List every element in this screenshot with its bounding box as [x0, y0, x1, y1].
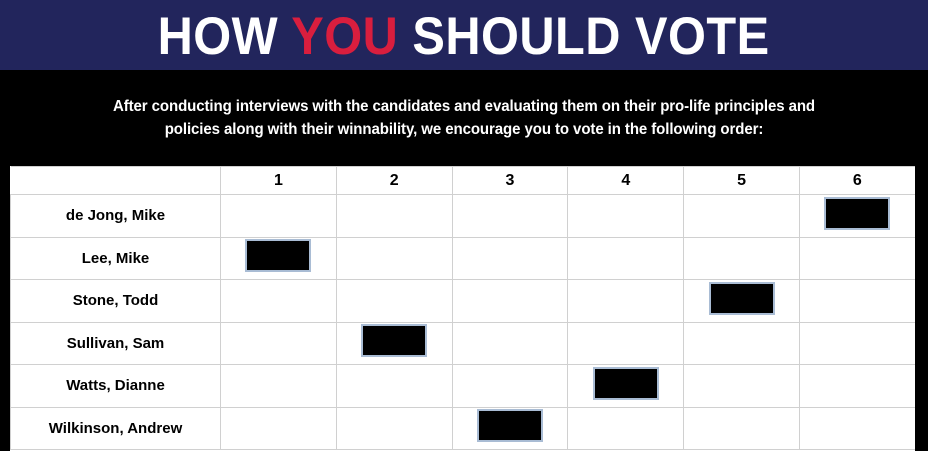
column-header-rank-3: 3	[452, 167, 568, 195]
rank-cell-1	[221, 365, 337, 408]
rank-cell-6	[799, 322, 915, 365]
rank-cell-4	[568, 195, 684, 238]
rank-cell-5	[684, 322, 800, 365]
column-header-name	[11, 167, 221, 195]
rank-cell-5	[684, 237, 800, 280]
rank-cell-1	[221, 195, 337, 238]
table-header: 1 2 3 4 5 6	[11, 167, 916, 195]
subtitle-band: After conducting interviews with the can…	[0, 70, 928, 166]
rank-marker	[245, 239, 311, 272]
column-header-rank-2: 2	[336, 167, 452, 195]
rank-cell-1	[221, 237, 337, 280]
rank-cell-1	[221, 280, 337, 323]
rank-cell-4	[568, 322, 684, 365]
candidate-name-cell: Wilkinson, Andrew	[11, 407, 221, 450]
rank-marker	[709, 282, 775, 315]
rank-cell-3	[452, 322, 568, 365]
rank-cell-3	[452, 195, 568, 238]
table-row: de Jong, Mike	[11, 195, 916, 238]
table-row: Lee, Mike	[11, 237, 916, 280]
candidate-name-cell: de Jong, Mike	[11, 195, 221, 238]
candidate-name-cell: Stone, Todd	[11, 280, 221, 323]
rank-cell-2	[336, 322, 452, 365]
rank-cell-2	[336, 365, 452, 408]
vote-order-table: 1 2 3 4 5 6 de Jong, MikeLee, MikeStone,…	[10, 166, 915, 450]
rank-marker	[824, 197, 890, 230]
candidate-name-cell: Watts, Dianne	[11, 365, 221, 408]
rank-cell-6	[799, 195, 915, 238]
rank-cell-2	[336, 407, 452, 450]
page-title-accent: YOU	[292, 7, 399, 66]
rank-cell-3	[452, 365, 568, 408]
rank-cell-6	[799, 237, 915, 280]
table-row: Watts, Dianne	[11, 365, 916, 408]
rank-cell-4	[568, 237, 684, 280]
table-row: Wilkinson, Andrew	[11, 407, 916, 450]
rank-cell-5	[684, 407, 800, 450]
rank-marker	[593, 367, 659, 400]
rank-cell-2	[336, 280, 452, 323]
rank-cell-6	[799, 407, 915, 450]
column-header-rank-6: 6	[799, 167, 915, 195]
rank-cell-3	[452, 280, 568, 323]
rank-cell-6	[799, 365, 915, 408]
rank-cell-2	[336, 195, 452, 238]
rank-marker	[477, 409, 543, 442]
column-header-rank-4: 4	[568, 167, 684, 195]
subtitle-text: After conducting interviews with the can…	[105, 95, 823, 141]
page-title-part1: HOW	[158, 7, 292, 66]
rank-cell-5	[684, 365, 800, 408]
header-banner: HOW YOU SHOULD VOTE	[0, 0, 928, 70]
table-row: Sullivan, Sam	[11, 322, 916, 365]
column-header-rank-1: 1	[221, 167, 337, 195]
vote-order-table-container: 1 2 3 4 5 6 de Jong, MikeLee, MikeStone,…	[10, 166, 915, 451]
column-header-rank-5: 5	[684, 167, 800, 195]
rank-cell-4	[568, 365, 684, 408]
rank-marker	[361, 324, 427, 357]
rank-cell-6	[799, 280, 915, 323]
page-title-part2: SHOULD VOTE	[399, 7, 770, 66]
rank-cell-2	[336, 237, 452, 280]
rank-cell-4	[568, 407, 684, 450]
table-body: de Jong, MikeLee, MikeStone, ToddSulliva…	[11, 195, 916, 450]
rank-cell-3	[452, 237, 568, 280]
rank-cell-1	[221, 407, 337, 450]
table-row: Stone, Todd	[11, 280, 916, 323]
rank-cell-1	[221, 322, 337, 365]
rank-cell-5	[684, 195, 800, 238]
rank-cell-3	[452, 407, 568, 450]
table-header-row: 1 2 3 4 5 6	[11, 167, 916, 195]
candidate-name-cell: Sullivan, Sam	[11, 322, 221, 365]
candidate-name-cell: Lee, Mike	[11, 237, 221, 280]
rank-cell-4	[568, 280, 684, 323]
rank-cell-5	[684, 280, 800, 323]
page-title: HOW YOU SHOULD VOTE	[158, 10, 770, 63]
